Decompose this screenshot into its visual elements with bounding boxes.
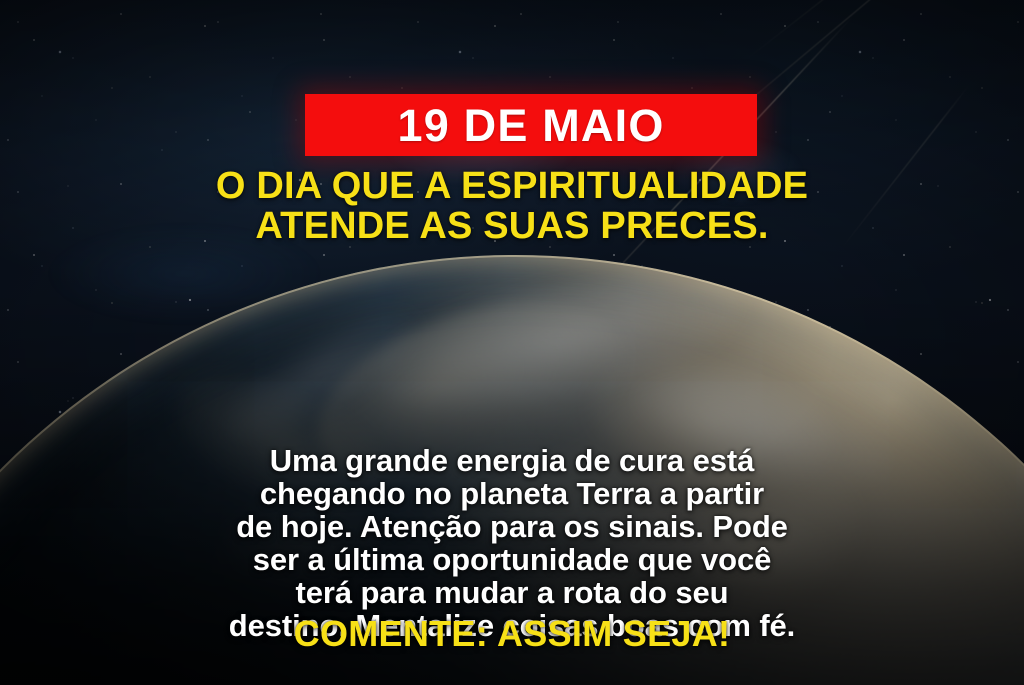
body-line-2: chegando no planeta Terra a partir [62, 477, 962, 510]
date-banner: 19 DE MAIO [305, 94, 757, 156]
poster-content: 19 DE MAIO O DIA QUE A ESPIRITUALIDADE A… [0, 0, 1024, 685]
headline-line-2: ATENDE AS SUAS PRECES. [0, 206, 1024, 246]
body-line-3: de hoje. Atenção para os sinais. Pode [62, 510, 962, 543]
poster-canvas: 19 DE MAIO O DIA QUE A ESPIRITUALIDADE A… [0, 0, 1024, 685]
body-line-5: terá para mudar a rota do seu [62, 576, 962, 609]
body-line-1: Uma grande energia de cura está [62, 444, 962, 477]
date-banner-label: 19 DE MAIO [397, 103, 664, 148]
headline: O DIA QUE A ESPIRITUALIDADE ATENDE AS SU… [0, 166, 1024, 246]
body-line-4: ser a última oportunidade que você [62, 543, 962, 576]
call-to-action-text: COMENTE: ASSIM SEJA! [0, 614, 1024, 654]
headline-line-1: O DIA QUE A ESPIRITUALIDADE [0, 166, 1024, 206]
